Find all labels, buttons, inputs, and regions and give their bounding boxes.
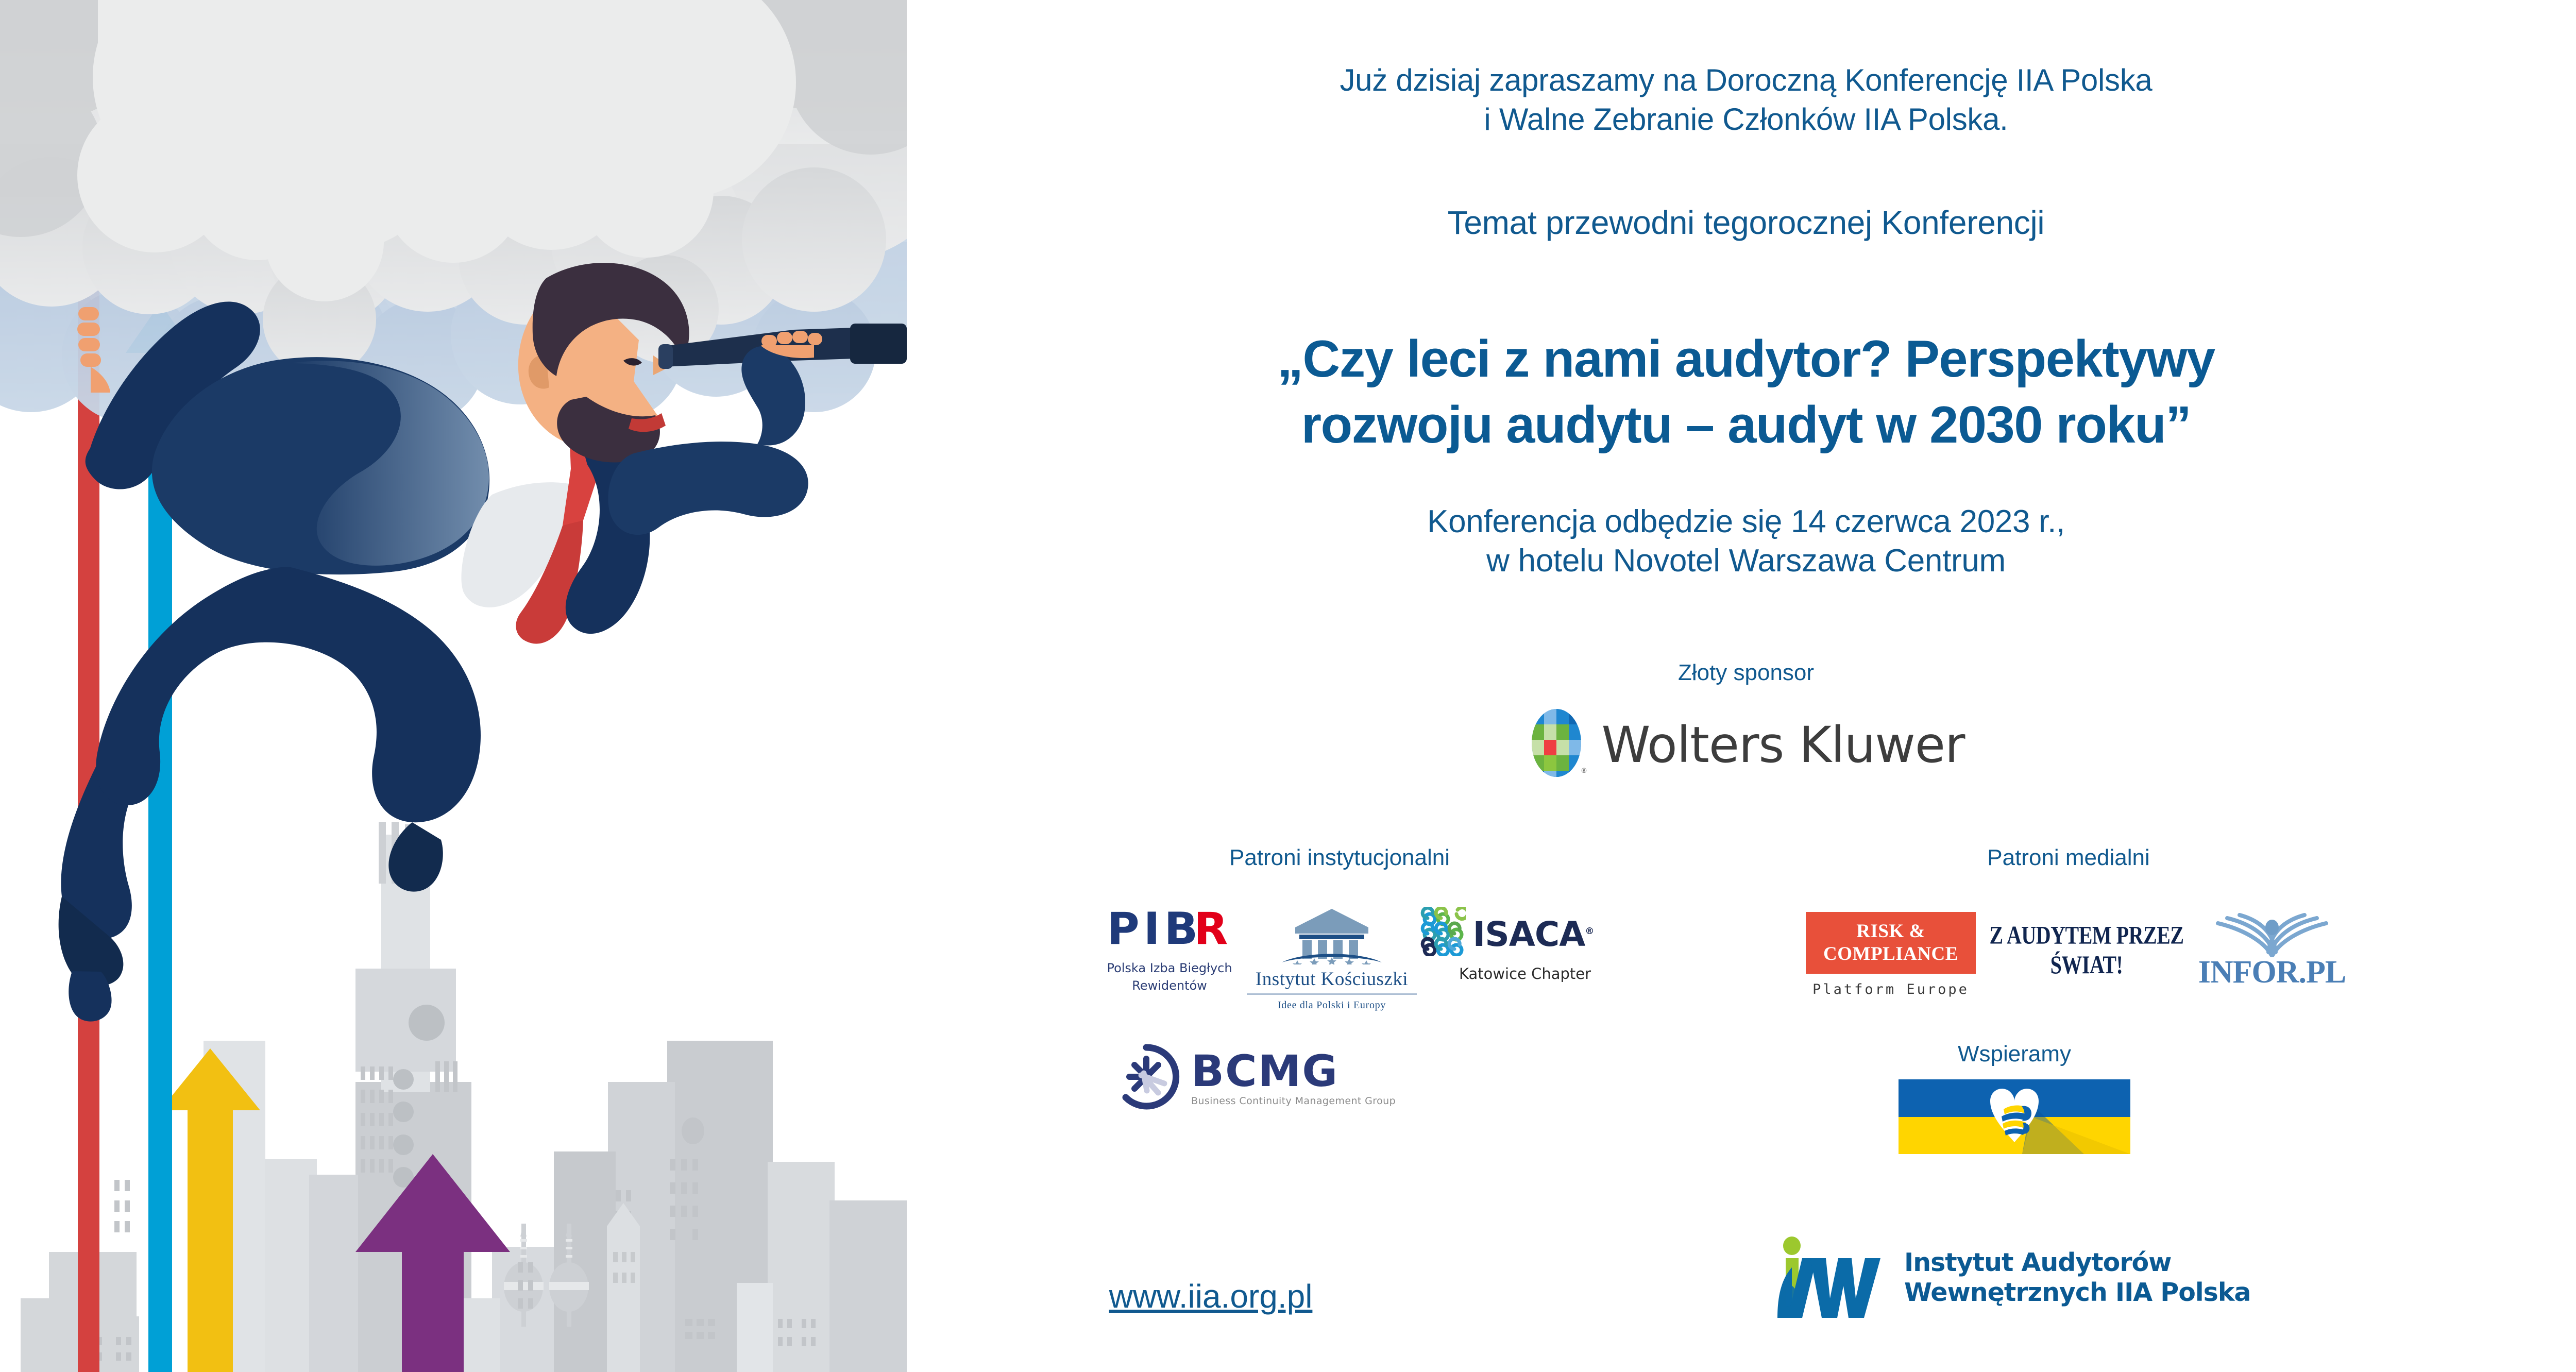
wolters-kluwer-mark-icon: ® [1528,707,1587,783]
logo-pibr: PIBR Polska Izba Biegłych Rewidentów [1092,907,1247,994]
logo-infor-pl: INFOR.PL [2197,912,2347,988]
isaca-name: ISACA [1473,914,1585,954]
pibr-mark-icon: PIBR [1092,907,1247,951]
title-line-1: „Czy leci z nami audytor? Perspektywy [907,326,2576,392]
subtitle-text: Temat przewodni tegorocznej Konferencji [907,204,2576,242]
organizer-name-line-1: Instytut Audytorów [1904,1248,2250,1278]
logo-bcmg: BCMG Business Continuity Management Grou… [1113,1043,1484,1113]
page-title: „Czy leci z nami audytor? Perspektywy ro… [907,326,2576,458]
kosciuszki-wordmark: Instytut Kościuszki [1247,969,1417,995]
logo-z-audytem-przez-swiat: Z AUDYTEM PRZEZ ŚWIAT! [1976,912,2197,974]
intro-line-2: i Walne Zebranie Członków IIA Polska. [907,100,2576,139]
wolters-kluwer-wordmark: Wolters Kluwer [1602,720,1965,770]
isaca-trademark: ® [1585,926,1594,937]
event-venue: w hotelu Novotel Warszawa Centrum [907,541,2576,581]
support-heading: Wspieramy [1741,1041,2287,1068]
gold-sponsor-logo: ® Wolters Kluwer [907,707,2576,783]
event-date: Konferencja odbędzie się 14 czerwca 2023… [907,502,2576,541]
institutional-patrons-section: Patroni instytucjonalni [1015,845,1664,871]
pibr-acronym-accent: R [1194,903,1232,955]
pibr-subtitle-line-2: Rewidentów [1092,977,1247,994]
organizer-logo: Instytut Audytorów Wewnętrznych IIA Pols… [1772,1237,2250,1319]
svg-text:®: ® [1581,767,1587,775]
logo-isaca: ISACA® Katowice Chapter [1417,907,1597,983]
pibr-subtitle-line-1: Polska Izba Biegłych [1092,959,1247,977]
intro-text: Już dzisiaj zapraszamy na Doroczną Konfe… [907,61,2576,139]
media-patrons-heading: Patroni medialni [1747,845,2391,871]
logo-risk-compliance: RISK & COMPLIANCE Platform Europe [1806,912,1976,997]
organizer-name-line-2: Wewnętrznych IIA Polska [1904,1278,2250,1308]
bcmg-mark-icon [1113,1043,1180,1113]
bcmg-wordmark: BCMG [1191,1049,1396,1093]
infor-wordmark: INFOR.PL [2197,956,2347,988]
z-audytem-wordmark: Z AUDYTEM PRZEZ ŚWIAT! [1976,921,2197,980]
risk-compliance-subtitle: Platform Europe [1806,982,1976,997]
media-patrons-section: Patroni medialni [1747,845,2391,871]
isaca-mark-icon [1420,907,1466,959]
iaw-mark-icon [1772,1237,1891,1319]
media-logos-row: RISK & COMPLIANCE Platform Europe Z AUDY… [1700,912,2452,997]
institutional-patrons-heading: Patroni instytucjonalni [1015,845,1664,871]
kosciuszki-tagline: Idee dla Polski i Europy [1247,999,1417,1011]
logo-instytut-kosciuszki: Instytut Kościuszki Idee dla Polski i Eu… [1247,907,1417,1011]
isaca-chapter: Katowice Chapter [1417,965,1597,983]
risk-compliance-wordmark: RISK & COMPLIANCE [1806,912,1976,974]
hero-illustration [0,0,907,1372]
institutional-logos-row: PIBR Polska Izba Biegłych Rewidentów [984,907,1705,1011]
content-column: Już dzisiaj zapraszamy na Doroczną Konfe… [907,0,2576,1372]
organizer-name: Instytut Audytorów Wewnętrznych IIA Pols… [1904,1248,2250,1308]
kosciuszki-temple-icon [1247,907,1417,964]
website-link[interactable]: www.iia.org.pl [953,1278,1468,1315]
infor-bird-icon [2197,912,2347,959]
intro-line-1: Już dzisiaj zapraszamy na Doroczną Konfe… [907,61,2576,100]
bcmg-subtitle: Business Continuity Management Group [1191,1095,1396,1107]
title-line-2: rozwoju audytu – audyt w 2030 roku” [907,392,2576,458]
poster-canvas: Już dzisiaj zapraszamy na Doroczną Konfe… [0,0,2576,1372]
gold-sponsor-label: Złoty sponsor [907,659,2576,686]
event-details: Konferencja odbędzie się 14 czerwca 2023… [907,502,2576,581]
ukraine-support-flag-icon [1899,1079,2130,1154]
isaca-wordmark: ISACA® [1473,914,1594,952]
pibr-acronym: PIB [1107,903,1202,955]
pibr-subtitle: Polska Izba Biegłych Rewidentów [1092,959,1247,994]
